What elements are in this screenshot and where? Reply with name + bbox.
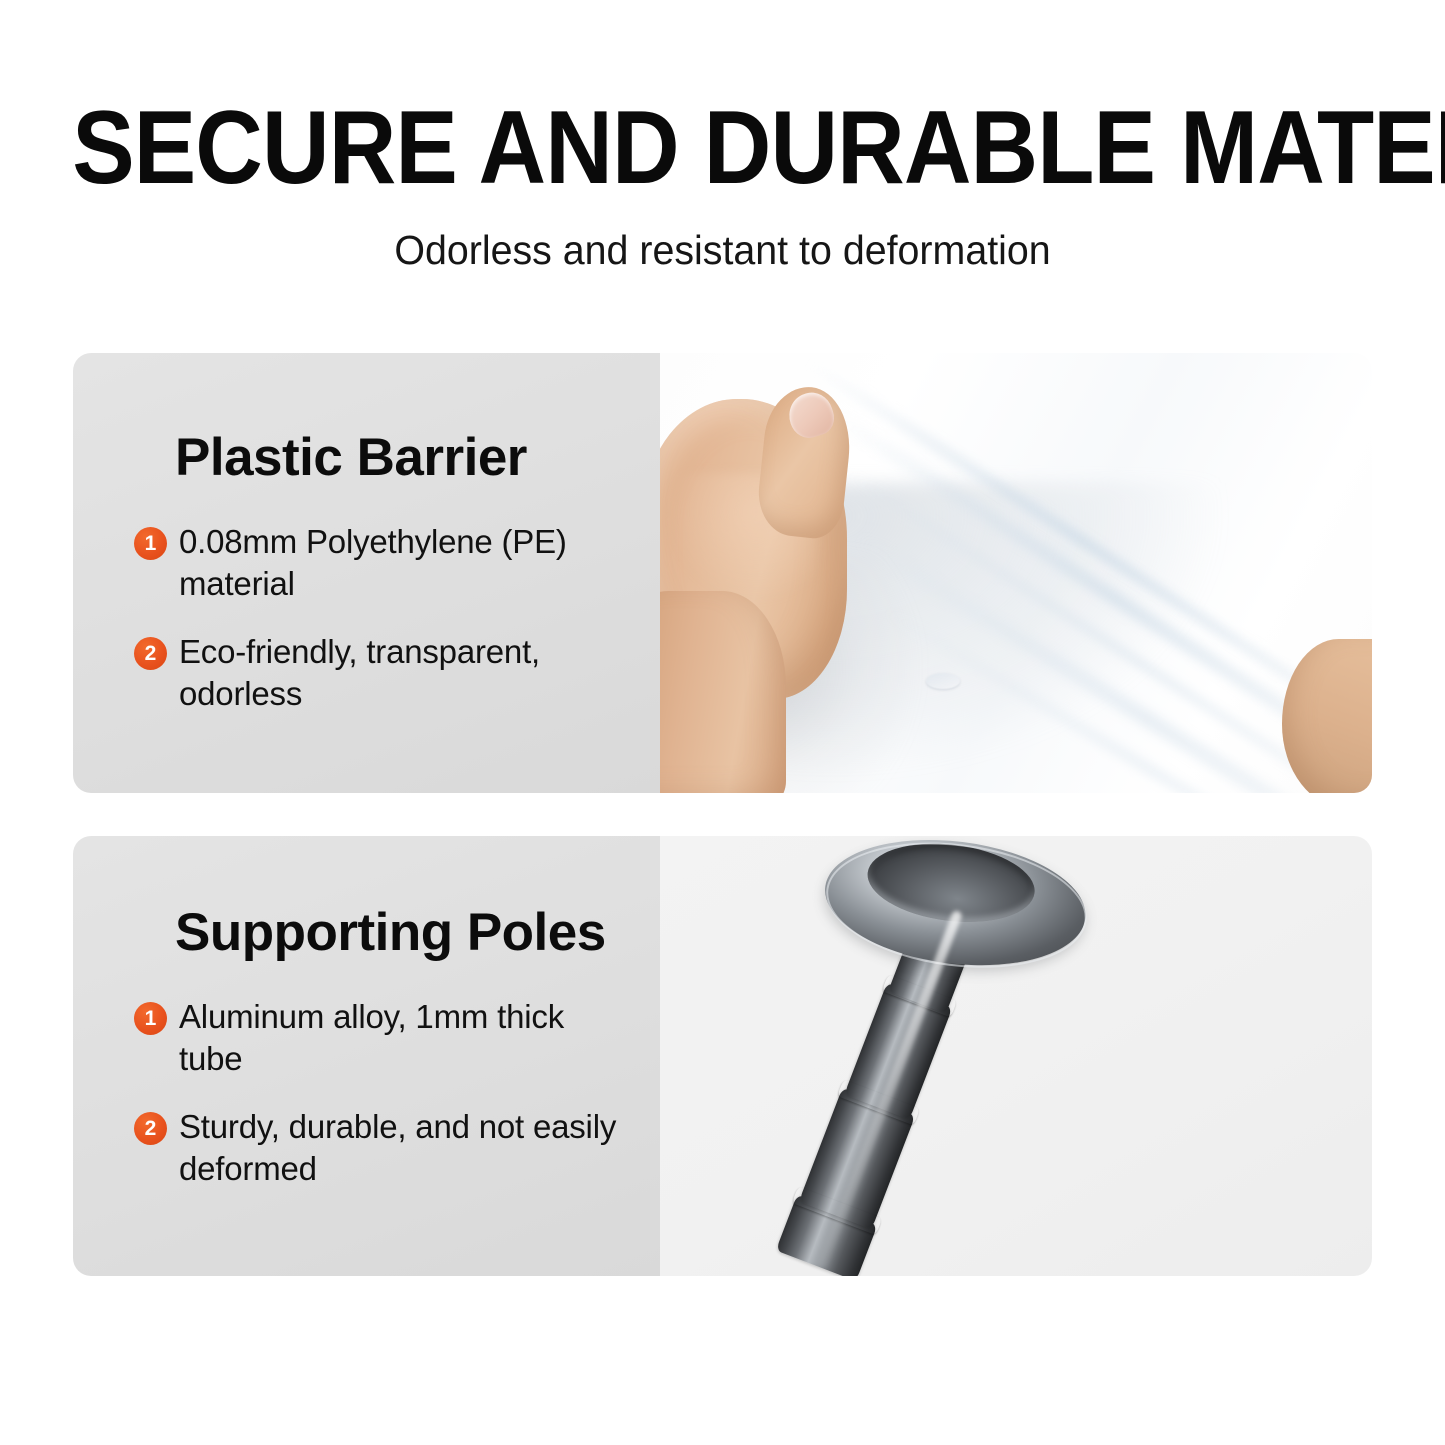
second-hand (1282, 639, 1372, 793)
page-header: SECURE AND DURABLE MATERIAL Odorless and… (0, 0, 1445, 330)
number-badge-icon: 1 (134, 527, 167, 560)
hand-gripping-film (660, 381, 862, 793)
plastic-film-photo (660, 353, 1372, 793)
card-image-plastic-film (660, 353, 1372, 793)
feature-card-supporting-poles: Supporting Poles 1 Aluminum alloy, 1mm t… (73, 836, 1372, 1276)
card-heading: Plastic Barrier (175, 429, 527, 487)
card-bullet-list: 1 0.08mm Polyethylene (PE) material 2 Ec… (134, 521, 634, 741)
page-title: SECURE AND DURABLE MATERIAL (72, 96, 1373, 200)
list-item: 1 Aluminum alloy, 1mm thick tube (134, 996, 634, 1080)
hand-wrist (660, 591, 786, 793)
number-badge-icon: 2 (134, 1112, 167, 1145)
film-water-droplet (926, 673, 960, 689)
list-item: 2 Sturdy, durable, and not easily deform… (134, 1106, 634, 1190)
list-item: 1 0.08mm Polyethylene (PE) material (134, 521, 634, 605)
bullet-text: Aluminum alloy, 1mm thick tube (179, 996, 634, 1080)
bullet-text: Sturdy, durable, and not easily deformed (179, 1106, 634, 1190)
card-image-support-pole (660, 836, 1372, 1276)
feature-card-plastic-barrier: Plastic Barrier 1 0.08mm Polyethylene (P… (73, 353, 1372, 793)
card-text-panel: Supporting Poles 1 Aluminum alloy, 1mm t… (73, 836, 660, 1276)
bullet-text: Eco-friendly, transparent, odorless (179, 631, 634, 715)
card-text-panel: Plastic Barrier 1 0.08mm Polyethylene (P… (73, 353, 660, 793)
bullet-text: 0.08mm Polyethylene (PE) material (179, 521, 634, 605)
support-pole-photo (660, 836, 1372, 1276)
number-badge-icon: 2 (134, 637, 167, 670)
number-badge-icon: 1 (134, 1002, 167, 1035)
page-subtitle: Odorless and resistant to deformation (29, 226, 1416, 274)
card-heading: Supporting Poles (175, 904, 606, 962)
list-item: 2 Eco-friendly, transparent, odorless (134, 631, 634, 715)
card-bullet-list: 1 Aluminum alloy, 1mm thick tube 2 Sturd… (134, 996, 634, 1216)
telescoping-pole (683, 836, 1242, 1276)
